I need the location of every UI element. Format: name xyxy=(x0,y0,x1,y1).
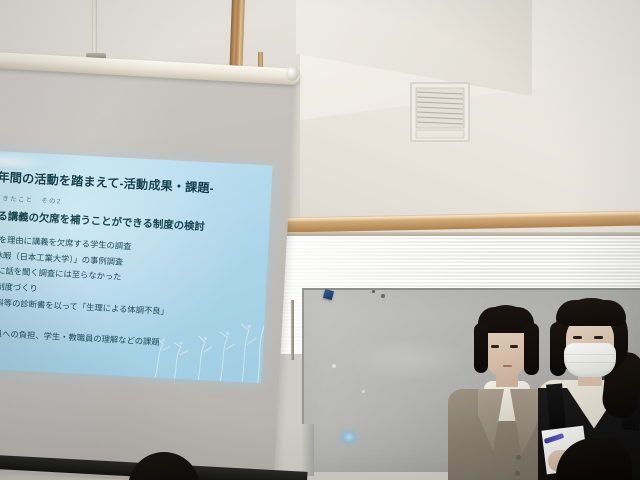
presenter-right-mask-fold-2 xyxy=(565,362,615,363)
screen-hanging-rod xyxy=(92,0,97,56)
projected-slide: 4年間の活動を踏まえて-活動成果・課題- 行ってきたこと その2 」による講義の… xyxy=(0,150,273,383)
presenter-left-sidelock-right xyxy=(524,323,539,375)
ceiling-vent-icon xyxy=(410,82,472,144)
presentation-room-photo: 4年間の活動を踏まえて-活動成果・課題- 行ってきたこと その2 」による講義の… xyxy=(0,0,640,480)
window-mullion xyxy=(291,300,294,360)
presenter-left-eye-right xyxy=(510,345,518,348)
whiteboard-pin-a xyxy=(372,290,375,293)
presenter-left-eye-left xyxy=(491,345,499,348)
whiteboard-side-tray xyxy=(302,424,314,476)
presenter-right-mask-fold-1 xyxy=(565,354,615,355)
presenter-right-eye-right xyxy=(594,336,603,339)
presenter-left-button-2 xyxy=(515,471,520,476)
presenter-right-fringe xyxy=(556,300,626,326)
slide-decoration-botanical xyxy=(145,303,269,383)
presenter-left-mouth xyxy=(503,365,512,367)
presenter-right-eye-left xyxy=(573,336,582,339)
presenter-left-sidelock-left xyxy=(474,323,488,373)
projector-light-reflection xyxy=(338,428,360,446)
whiteboard-pin-b xyxy=(381,294,385,298)
presenter-right-face-mask xyxy=(564,343,616,377)
whiteboard-mark-2 xyxy=(362,390,365,393)
whiteboard-mark-1 xyxy=(332,364,336,368)
presenter-left-button-1 xyxy=(516,455,521,460)
